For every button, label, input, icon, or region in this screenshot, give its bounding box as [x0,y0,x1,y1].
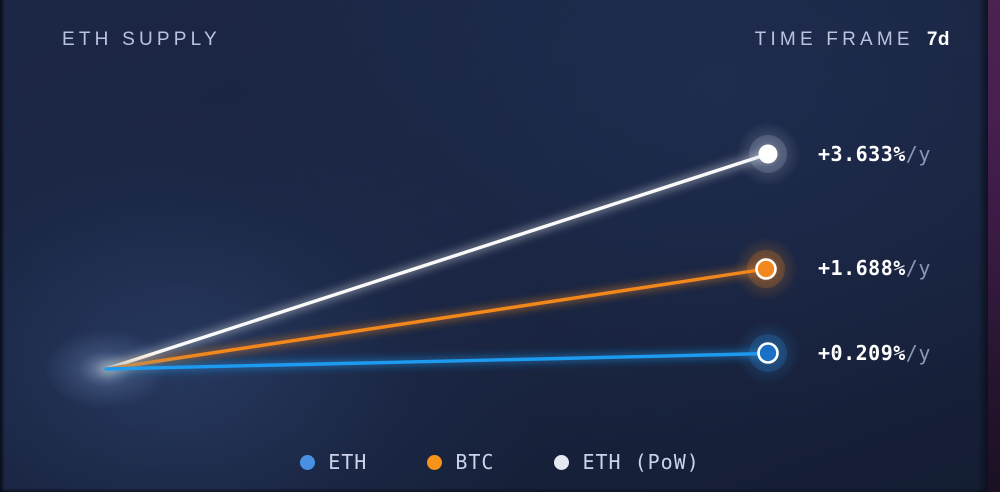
value-label-eth-pow-unit: /y [906,142,931,166]
value-label-btc-unit: /y [906,256,931,280]
timeframe-label: TIME FRAME [755,29,914,51]
chart-header: ETH SUPPLY TIME FRAME 7d [0,0,1000,78]
endpoint-marker-btc[interactable] [734,237,798,301]
panel-left-edge [0,0,5,492]
series-line-btc [106,269,766,369]
legend-item-eth[interactable]: ETH [300,450,367,474]
value-label-btc: +1.688%/y [818,256,931,280]
legend-label-btc: BTC [455,450,494,474]
page-title: ETH SUPPLY [62,29,221,51]
panel-bottom-edge [0,488,1000,492]
legend-dot-eth-pow-icon [554,455,569,470]
legend-dot-btc-icon [427,455,442,470]
value-label-eth-number: +0.209% [818,341,906,365]
panel-right-shade [978,0,988,492]
series-line-eth [106,354,768,370]
endpoint-marker-eth[interactable] [736,321,800,385]
value-label-eth-pow: +3.633%/y [818,142,931,166]
legend-dot-eth-icon [300,455,315,470]
chart-legend: ETH BTC ETH (PoW) [0,450,1000,474]
timeframe-selector[interactable]: TIME FRAME 7d [755,29,950,51]
legend-label-eth-pow: ETH (PoW) [582,450,699,474]
legend-item-btc[interactable]: BTC [427,450,494,474]
series-line-eth-pow [106,154,768,369]
panel-right-accent-strip [988,0,1000,492]
endpoint-marker-eth-pow[interactable] [736,122,800,186]
legend-item-eth-pow[interactable]: ETH (PoW) [554,450,699,474]
value-label-eth: +0.209%/y [818,341,931,365]
value-label-eth-unit: /y [906,341,931,365]
timeframe-value[interactable]: 7d [927,29,950,51]
value-label-eth-pow-number: +3.633% [818,142,906,166]
legend-label-eth: ETH [328,450,367,474]
chart-panel: ETH SUPPLY TIME FRAME 7d [0,0,1000,492]
value-label-btc-number: +1.688% [818,256,906,280]
